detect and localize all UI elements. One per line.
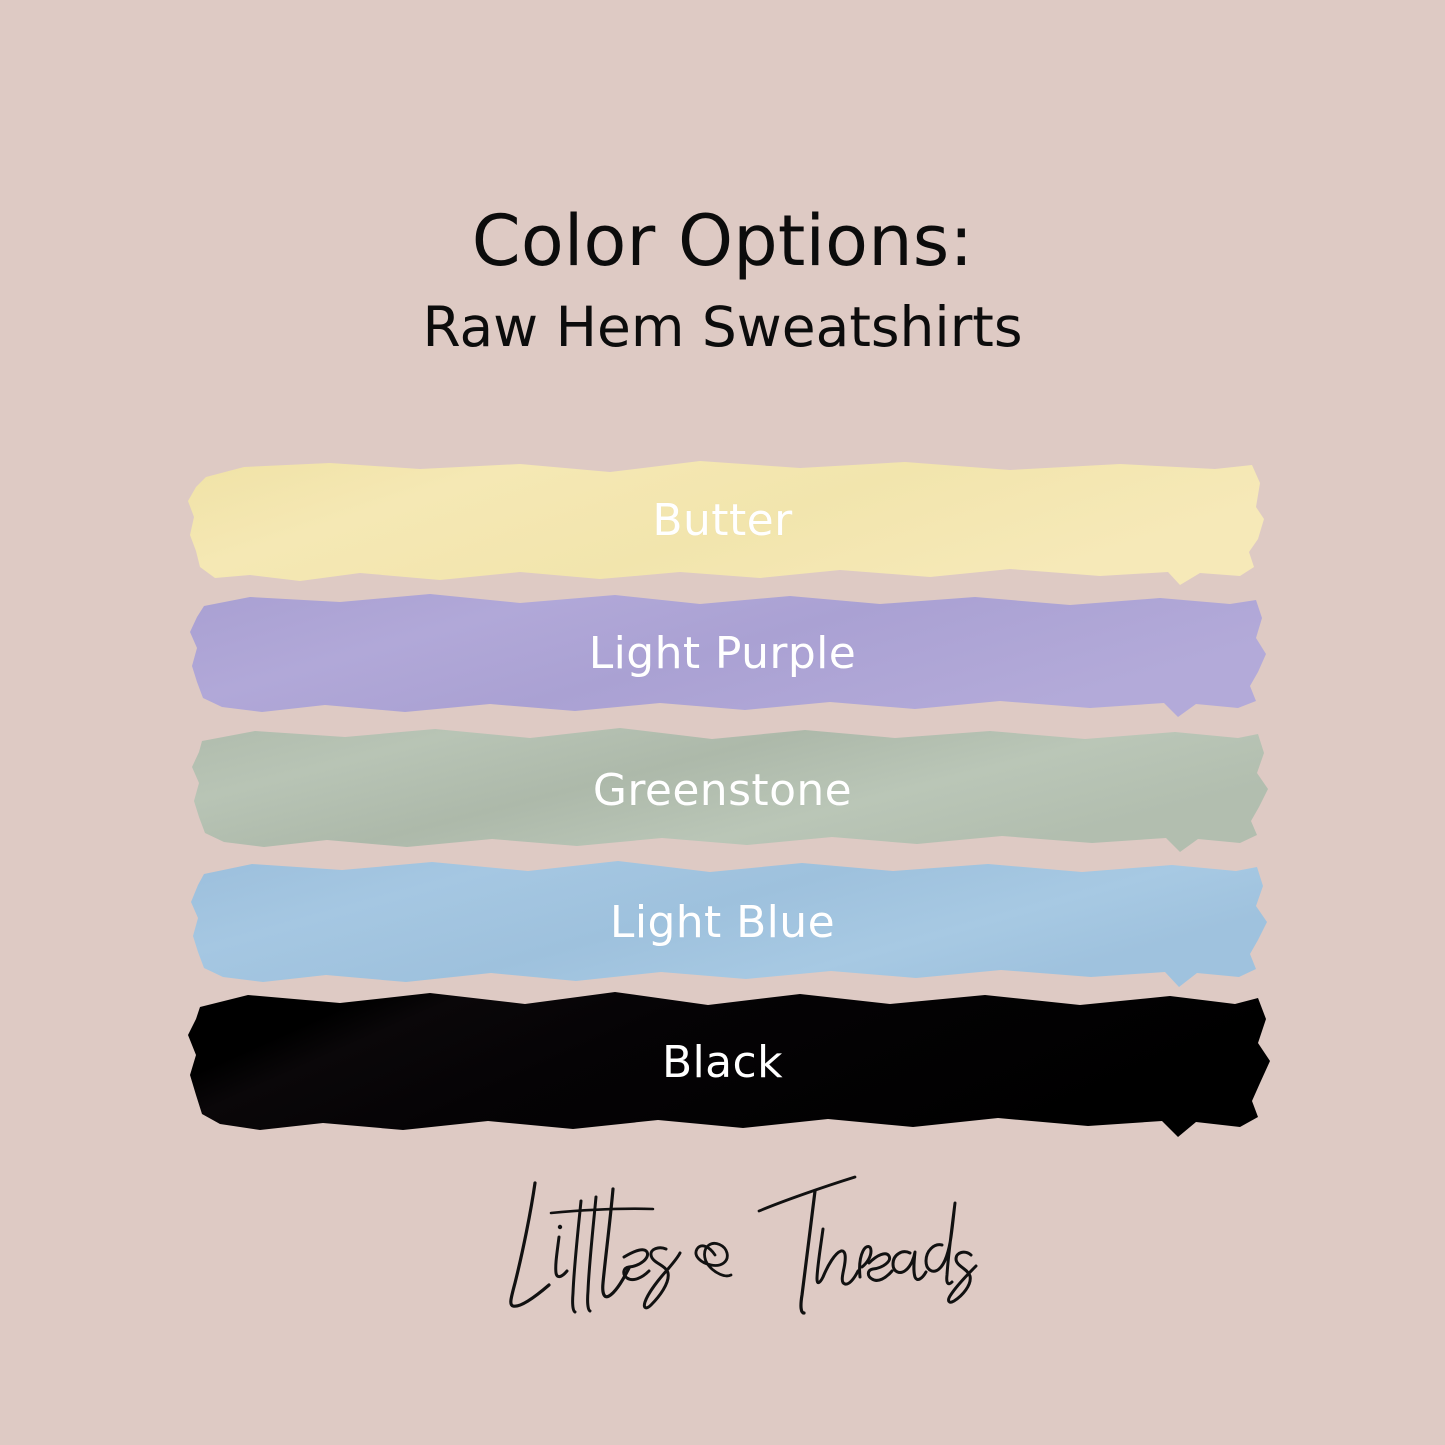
color-options-card: Color Options: Raw Hem Sweatshirts Butte… — [0, 0, 1445, 1445]
page-subtitle: Raw Hem Sweatshirts — [0, 300, 1445, 355]
brand-logo: Littles & Threads — [0, 1165, 1445, 1335]
brush-stroke-shape-icon — [0, 987, 1445, 1147]
color-swatch-light-blue[interactable]: Light Blue — [0, 855, 1445, 997]
heading-block: Color Options: Raw Hem Sweatshirts — [0, 206, 1445, 355]
color-swatch-black[interactable]: Black — [0, 987, 1445, 1147]
color-swatch-greenstone[interactable]: Greenstone — [0, 721, 1445, 861]
brush-stroke-shape-icon — [0, 455, 1445, 595]
brand-name-text: Littles & Threads — [983, 1165, 984, 1166]
color-swatch-list: Butter Light Purple — [0, 455, 1445, 1155]
brush-stroke-shape-icon — [0, 855, 1445, 997]
brush-stroke-shape-icon — [0, 588, 1445, 726]
color-swatch-butter[interactable]: Butter — [0, 455, 1445, 595]
brush-stroke-shape-icon — [0, 721, 1445, 861]
brand-signature-icon — [463, 1165, 983, 1330]
page-title: Color Options: — [0, 206, 1445, 276]
color-swatch-light-purple[interactable]: Light Purple — [0, 588, 1445, 726]
